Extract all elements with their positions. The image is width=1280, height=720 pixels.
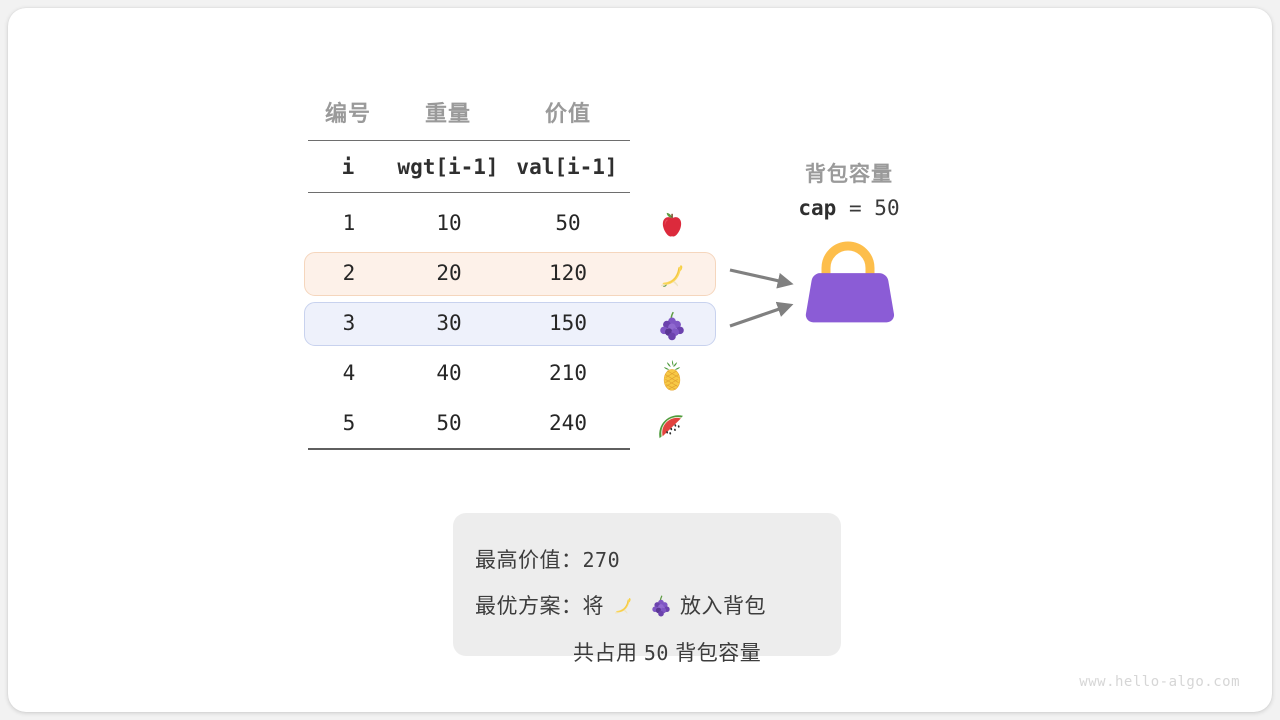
selection-arrows (708, 238, 818, 358)
arrow-item-3 (730, 306, 788, 326)
table-row[interactable]: 1 10 50 (304, 202, 716, 246)
table-row[interactable]: 5 50 240 (304, 402, 716, 446)
diagram-card: 编号 重量 价值 i wgt[i-1] val[i-1] 1 10 50 (8, 8, 1272, 712)
cell-weight: 20 (387, 261, 511, 285)
capacity-block: 背包容量 cap = 50 (754, 160, 944, 222)
result-usage-prefix: 共占用 (573, 642, 638, 665)
table-rule-top (308, 140, 630, 141)
cell-weight: 10 (387, 211, 511, 235)
cell-value: 210 (505, 361, 631, 385)
result-max-value: 270 (583, 548, 621, 572)
table-row[interactable]: 4 40 210 (304, 352, 716, 396)
cell-weight: 50 (387, 411, 511, 435)
arrow-item-2 (730, 270, 788, 283)
page-canvas: 编号 重量 价值 i wgt[i-1] val[i-1] 1 10 50 (0, 0, 1280, 720)
table-rule-bottom (308, 448, 630, 450)
apple-icon (653, 207, 693, 243)
capacity-keyword: cap (798, 196, 836, 220)
banana-icon (609, 592, 637, 620)
code-header-i: i (308, 155, 388, 179)
cell-value: 120 (505, 261, 631, 285)
items-table: 编号 重量 价值 i wgt[i-1] val[i-1] 1 10 50 (308, 96, 728, 456)
column-header-value: 价值 (528, 96, 608, 128)
capacity-expression: cap = 50 (754, 194, 944, 222)
pineapple-icon (653, 357, 693, 393)
capacity-title: 背包容量 (754, 160, 944, 190)
code-header-wgt: wgt[i-1] (386, 155, 510, 179)
result-plan-label: 最优方案： (475, 595, 583, 618)
result-plan-line: 最优方案：将 (475, 584, 841, 630)
column-header-weight: 重量 (408, 96, 488, 128)
cell-index: 1 (309, 211, 389, 235)
column-header-index: 编号 (308, 96, 388, 128)
cell-value: 50 (505, 211, 631, 235)
code-header-val: val[i-1] (504, 155, 630, 179)
table-row-highlighted-blue[interactable]: 3 30 150 (304, 302, 716, 346)
result-usage-line: 共占用 50 背包容量 (475, 630, 841, 677)
banana-icon (653, 257, 693, 293)
cell-value: 240 (505, 411, 631, 435)
result-max-value-line: 最高价值：270 (475, 537, 841, 584)
table-row-highlighted-orange[interactable]: 2 20 120 (304, 252, 716, 296)
cell-value: 150 (505, 311, 631, 335)
table-rule-middle (308, 192, 630, 193)
cell-index: 5 (309, 411, 389, 435)
capacity-number: 50 (874, 196, 899, 220)
watermark: www.hello-algo.com (1079, 674, 1240, 690)
grapes-icon (653, 307, 693, 343)
result-summary-box: 最高价值：270 最优方案：将 (453, 513, 841, 656)
result-plan-tail: 放入背包 (680, 595, 766, 618)
cell-index: 2 (309, 261, 389, 285)
result-usage-suffix: 背包容量 (675, 642, 761, 665)
cell-index: 3 (309, 311, 389, 335)
result-max-value-label: 最高价值： (475, 549, 583, 572)
cell-weight: 40 (387, 361, 511, 385)
capacity-equals: = (849, 196, 862, 220)
result-usage-value: 50 (644, 641, 669, 665)
table-code-header-row: i wgt[i-1] val[i-1] (308, 148, 630, 192)
result-plan-verb: 将 (583, 595, 605, 618)
cell-weight: 30 (387, 311, 511, 335)
watermelon-icon (653, 407, 693, 443)
grapes-icon (647, 592, 675, 620)
cell-index: 4 (309, 361, 389, 385)
